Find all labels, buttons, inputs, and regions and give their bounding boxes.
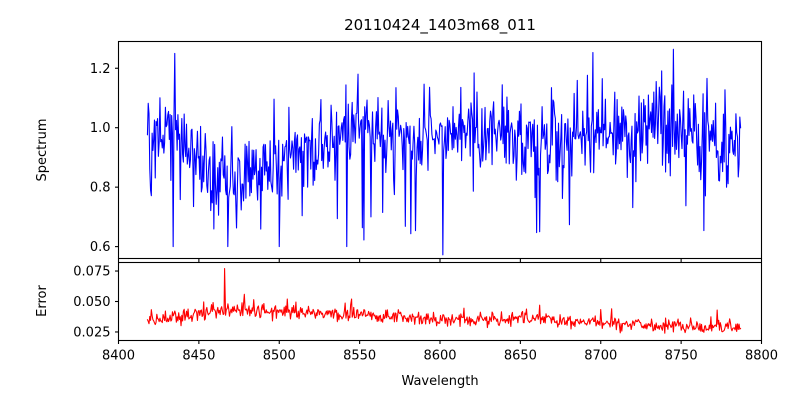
- spectrum-ytick-label: 0.6: [90, 240, 111, 255]
- x-tick-label: 8700: [584, 349, 617, 364]
- error-xtick-labels: 840084508500855086008650870087508800: [102, 349, 778, 364]
- x-tick-label: 8600: [423, 349, 456, 364]
- error-y-axis-label: Error: [35, 285, 50, 317]
- spectrum-ytick-label: 1.0: [90, 121, 111, 136]
- spectrum-ytick-label: 0.8: [90, 181, 111, 196]
- error-ytick-labels: 0.0250.0500.075: [73, 265, 110, 341]
- error-ytick-label: 0.050: [73, 295, 110, 310]
- x-tick-label: 8400: [102, 349, 135, 364]
- matplotlib-figure: 20110424_1403m68_011 0.60.81.01.2 Spectr…: [0, 0, 800, 400]
- x-tick-label: 8450: [182, 349, 215, 364]
- x-tick-label: 8500: [263, 349, 296, 364]
- error-ytick-label: 0.025: [73, 325, 110, 340]
- error-ytick-label: 0.075: [73, 265, 110, 280]
- spectrum-ytick-label: 1.2: [90, 62, 111, 77]
- figure-title: 20110424_1403m68_011: [344, 16, 536, 35]
- x-tick-label: 8650: [504, 349, 537, 364]
- x-tick-label: 8550: [343, 349, 376, 364]
- spectrum-y-axis-label: Spectrum: [35, 119, 50, 182]
- x-tick-label: 8750: [665, 349, 698, 364]
- x-tick-label: 8800: [745, 349, 778, 364]
- x-axis-label: Wavelength: [401, 374, 478, 389]
- figure-canvas: 20110424_1403m68_011 0.60.81.01.2 Spectr…: [0, 0, 800, 400]
